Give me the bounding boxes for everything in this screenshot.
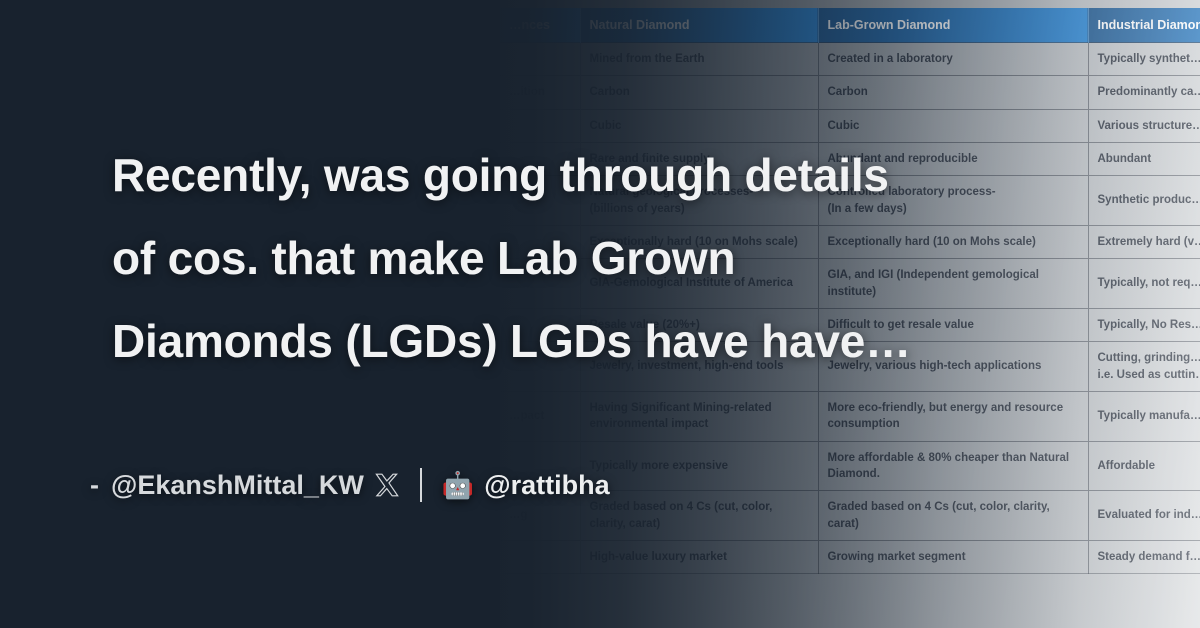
cell-industrial: Affordable [1088,441,1200,491]
row-label-cell [500,43,580,76]
author-handle: @EkanshMittal_KW [111,470,364,501]
quote-line-1: Recently, was going through details [112,134,1112,217]
cell-industrial: Evaluated for ind… [1088,491,1200,541]
attribution-dash: - [90,470,99,501]
cell-natural: Having Significant Mining-related enviro… [580,391,818,441]
cell-lab-grown: More eco-friendly, but energy and resour… [818,391,1088,441]
cell-natural: High-value luxury market [580,540,818,573]
column-header-lab-grown-diamond: Lab-Grown Diamond [818,8,1088,43]
cell-lab-grown: More affordable & 80% cheaper than Natur… [818,441,1088,491]
quote-text: Recently, was going through details of c… [112,134,1112,383]
brand-handle: @rattibha [484,470,609,501]
attribution-separator [420,468,422,502]
cell-natural: Graded based on 4 Cs (cut, color, clarit… [580,491,818,541]
cell-natural: Carbon [580,76,818,109]
cell-natural: Typically more expensive [580,441,818,491]
column-header-natural-diamond: Natural Diamond [580,8,818,43]
row-label-cell [500,540,580,573]
row-label-cell: …ition [500,76,580,109]
row-label-cell: …pact [500,391,580,441]
column-header-differences: …nces [500,8,580,43]
attribution-bar: - @EkanshMittal_KW 🤖 @rattibha [90,468,610,502]
table-row: High-value luxury marketGrowing market s… [500,540,1200,573]
table-row: Mined from the EarthCreated in a laborat… [500,43,1200,76]
robot-icon: 🤖 [442,472,474,498]
cell-industrial: Predominantly ca… [1088,76,1200,109]
table-header-row: …nces Natural Diamond Lab-Grown Diamond … [500,8,1200,43]
cell-lab-grown: Carbon [818,76,1088,109]
quote-line-3: Diamonds (LGDs) LGDs have have… [112,300,1112,383]
cell-lab-grown: Created in a laboratory [818,43,1088,76]
cell-industrial: Steady demand f… [1088,540,1200,573]
quote-line-2: of cos. that make Lab Grown [112,217,1112,300]
cell-natural: Mined from the Earth [580,43,818,76]
table-row: …itionCarbonCarbonPredominantly ca… [500,76,1200,109]
column-header-industrial-diamond: Industrial Diamond [1088,8,1200,43]
cell-industrial: Typically manufa… [1088,391,1200,441]
table-row: …pactHaving Significant Mining-related e… [500,391,1200,441]
social-share-card: …nces Natural Diamond Lab-Grown Diamond … [0,0,1200,628]
cell-lab-grown: Graded based on 4 Cs (cut, color, clarit… [818,491,1088,541]
cell-lab-grown: Growing market segment [818,540,1088,573]
cell-industrial: Typically synthet… [1088,43,1200,76]
x-logo-icon [374,472,400,498]
